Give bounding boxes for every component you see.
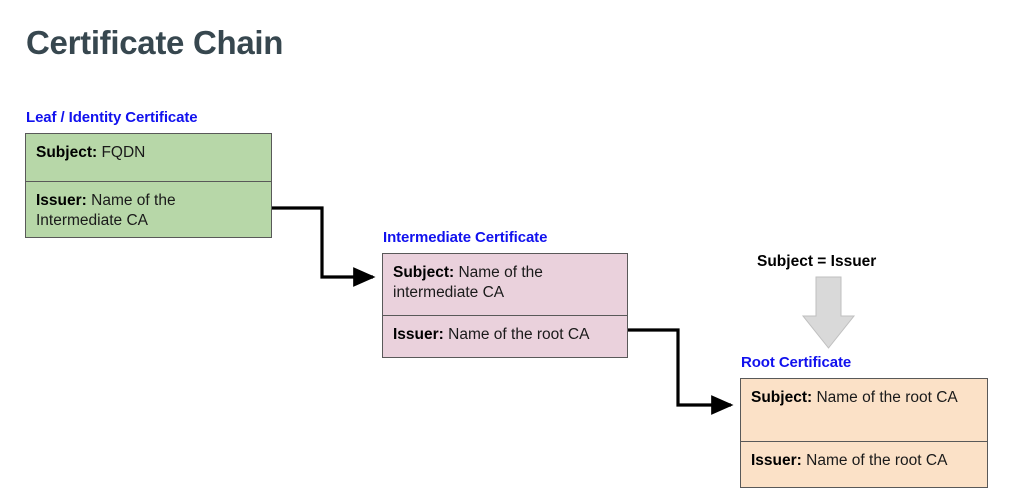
leaf-subject-label: Subject:	[36, 144, 101, 161]
leaf-subject-value: FQDN	[101, 144, 145, 161]
root-issuer-label: Issuer:	[751, 452, 806, 469]
root-issuer-value: Name of the root CA	[806, 452, 947, 469]
root-subject-label: Subject:	[751, 389, 816, 406]
root-certificate-caption: Root Certificate	[741, 354, 851, 371]
leaf-subject-row: Subject: FQDN	[26, 134, 271, 182]
root-subject-value: Name of the root CA	[816, 389, 957, 406]
root-certificate-box: Subject: Name of the root CA Issuer: Nam…	[740, 378, 988, 488]
leaf-certificate-caption: Leaf / Identity Certificate	[26, 109, 198, 126]
leaf-certificate-box: Subject: FQDN Issuer: Name of the Interm…	[25, 133, 272, 238]
intermediate-certificate-box: Subject: Name of the intermediate CA Iss…	[382, 253, 628, 358]
intermediate-issuer-value: Name of the root CA	[448, 326, 589, 343]
intermediate-certificate-caption: Intermediate Certificate	[383, 229, 547, 246]
leaf-issuer-row: Issuer: Name of the Intermediate CA	[26, 182, 271, 237]
root-subject-row: Subject: Name of the root CA	[741, 379, 987, 442]
intermediate-issuer-row: Issuer: Name of the root CA	[383, 316, 627, 357]
root-issuer-row: Issuer: Name of the root CA	[741, 442, 987, 487]
intermediate-issuer-label: Issuer:	[393, 326, 448, 343]
page-title: Certificate Chain	[26, 24, 283, 62]
intermediate-subject-label: Subject:	[393, 264, 458, 281]
intermediate-subject-row: Subject: Name of the intermediate CA	[383, 254, 627, 316]
leaf-issuer-label: Issuer:	[36, 192, 91, 209]
subject-equals-issuer-note: Subject = Issuer	[757, 253, 876, 271]
connector-leaf-to-intermediate	[272, 208, 373, 277]
connector-intermediate-to-root	[628, 330, 731, 405]
down-block-arrow-icon	[803, 277, 854, 348]
diagram-canvas: Certificate Chain Leaf / Identity Certif…	[0, 0, 1009, 498]
